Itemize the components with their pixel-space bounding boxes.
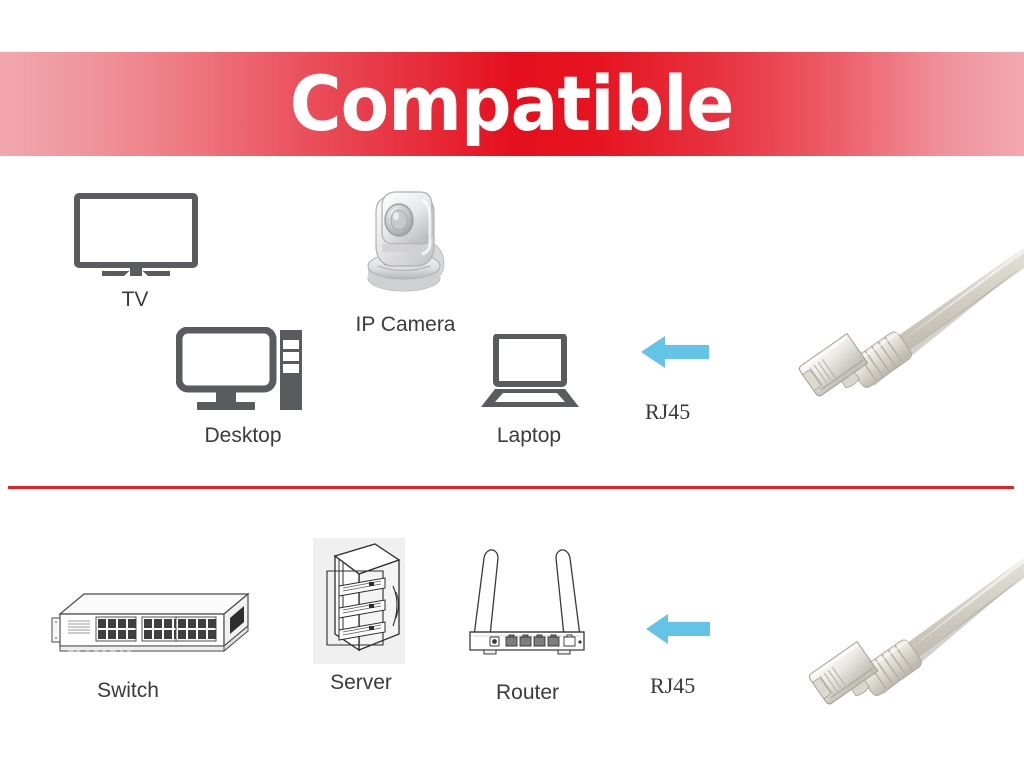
- rj45-label-bottom: RJ45: [650, 673, 695, 699]
- switch-label: Switch: [48, 679, 208, 703]
- header-banner: Compatible: [0, 52, 1024, 156]
- wifi-router-icon: [460, 544, 594, 664]
- section-divider: [8, 486, 1014, 489]
- laptop-icon: [481, 334, 579, 410]
- server-label: Server: [296, 671, 426, 695]
- ethernet-cable-image-bottom: [792, 558, 1024, 708]
- router-label: Router: [460, 681, 595, 705]
- ip-camera-label: IP Camera: [318, 313, 493, 337]
- arrow-left-icon: [641, 334, 709, 370]
- network-switch-icon: [42, 588, 258, 674]
- arrow-left-icon: [646, 612, 710, 646]
- server-rack-icon: [313, 538, 405, 664]
- ip-camera-icon: [352, 186, 460, 298]
- rj45-label-top: RJ45: [645, 399, 690, 425]
- desktop-computer-icon: [176, 327, 304, 415]
- ethernet-cable-image-top: [778, 248, 1024, 400]
- laptop-label: Laptop: [449, 424, 609, 448]
- tv-label: TV: [55, 288, 215, 312]
- page-title: Compatible: [290, 66, 734, 142]
- tv-icon: [74, 193, 198, 279]
- desktop-label: Desktop: [163, 424, 323, 448]
